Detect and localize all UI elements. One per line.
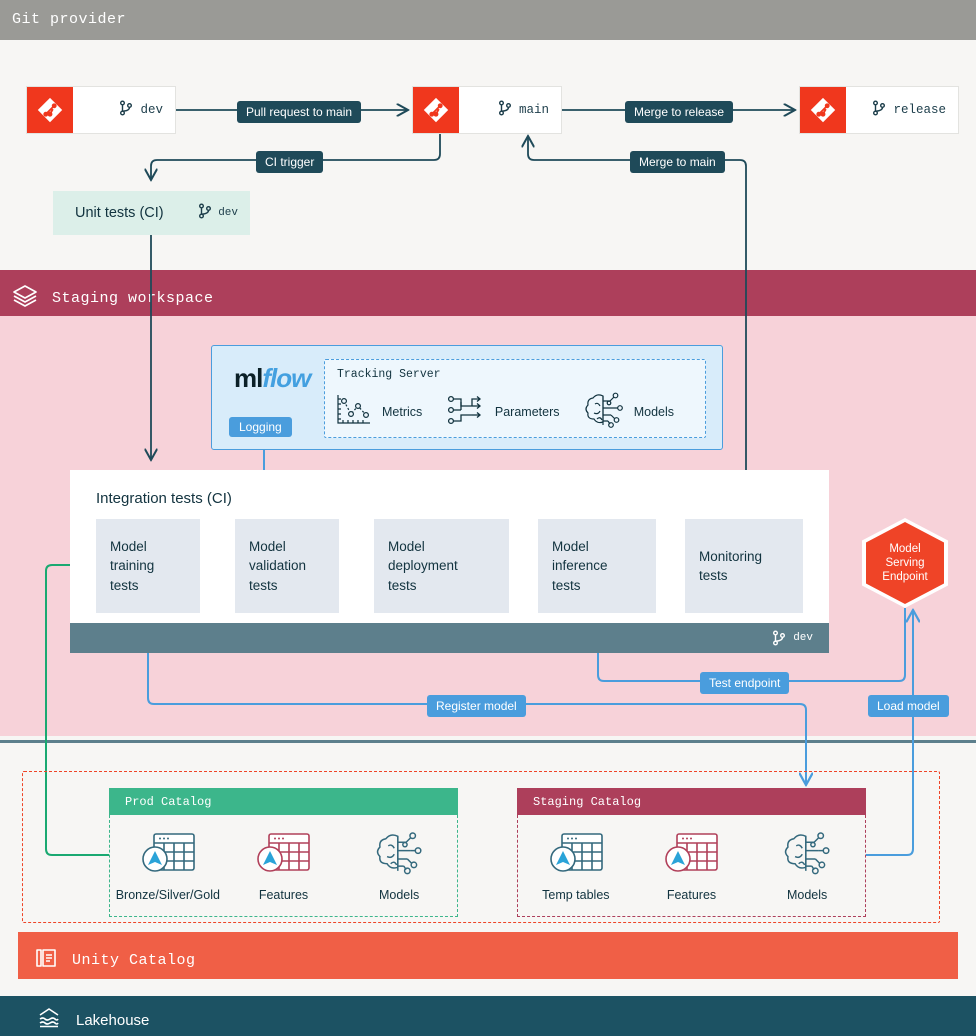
connector-label-merge-to-release: Merge to release [625,101,733,123]
repo-main-body: main [459,87,561,133]
staging-catalog-item-models[interactable]: Models [755,830,859,902]
prod-catalog-item-bronze-silver-gold[interactable]: Bronze/Silver/Gold [116,830,220,902]
prod-catalog-item-models[interactable]: Models [347,830,451,902]
staging-catalog-item-features[interactable]: Features [639,830,743,902]
connector-label-ci-trigger: CI trigger [256,151,323,173]
feature-table-icon [662,830,720,881]
test-card-model-inference[interactable]: Model inference tests [538,519,656,613]
delta-table-icon [547,830,605,881]
tracking-server-box: Tracking Server [324,359,706,438]
staging-catalog-item-label: Temp tables [542,888,609,902]
unit-tests-branch: dev [198,203,238,223]
git-provider-body [0,40,976,270]
prod-catalog-title: Prod Catalog [125,795,211,809]
models-brain-icon [782,830,832,881]
connector-label-logging: Logging [229,417,292,437]
staging-catalog-header: Staging Catalog [517,788,866,815]
unity-catalog-label: Unity Catalog [72,952,196,969]
diagram-canvas: Git provider Staging workspace Unity Cat… [0,0,976,1036]
parameters-nodes-icon [446,393,486,432]
staging-workspace-label: Staging workspace [52,290,214,307]
prod-catalog-header: Prod Catalog [109,788,458,815]
test-card-line1: Model [110,539,147,554]
test-card-model-training[interactable]: Model training tests [96,519,200,613]
prod-catalog-item-label: Features [259,888,308,902]
unit-tests-box[interactable]: Unit tests (CI) dev [53,191,250,235]
serving-endpoint-line3: Endpoint [882,571,927,583]
repo-dev-body: dev [73,87,175,133]
prod-catalog-item-features[interactable]: Features [231,830,335,902]
staging-catalog-item-temp-tables[interactable]: Temp tables [524,830,628,902]
prod-catalog-item-label: Models [379,888,419,902]
serving-endpoint-line2: Serving [886,557,925,569]
git-logo-icon [800,87,846,133]
test-card-line2: inference [552,558,608,573]
branch-icon [772,630,786,646]
tracking-item-parameters-label: Parameters [495,405,560,419]
staging-catalog-title: Staging Catalog [533,795,641,809]
staging-workspace-title: Staging workspace [12,284,214,313]
staging-catalog-item-label: Features [667,888,716,902]
repo-main-branch: main [519,103,549,117]
repo-release[interactable]: release [799,86,959,134]
prod-catalog[interactable]: Prod Catalog [109,788,458,917]
lakehouse-title: Lakehouse [36,1006,149,1034]
models-brain-icon [374,830,424,881]
test-card-line1: Model [249,539,286,554]
test-card-line1: Model [388,539,425,554]
git-logo-icon [413,87,459,133]
test-card-line2: deployment [388,558,458,573]
tracking-server-title: Tracking Server [337,368,441,381]
tracking-server-items: Metrics [333,390,699,434]
connector-label-pull-request-to-main: Pull request to main [237,101,361,123]
prod-catalog-item-label: Bronze/Silver/Gold [116,888,220,902]
test-card-model-validation[interactable]: Model validation tests [235,519,339,613]
staging-catalog[interactable]: Staging Catalog [517,788,866,917]
test-card-line2: tests [699,568,728,583]
metrics-chart-icon [333,392,373,433]
test-card-line2: validation [249,558,306,573]
test-card-line1: Monitoring [699,549,762,564]
unit-tests-label: Unit tests (CI) [75,205,164,221]
tracking-item-models-label: Models [634,405,674,419]
git-provider-band [0,0,976,40]
connector-label-merge-to-main: Merge to main [630,151,725,173]
test-card-line3: tests [388,578,417,593]
feature-table-icon [254,830,312,881]
branch-icon [498,100,512,121]
unity-catalog-title: Unity Catalog [34,946,196,975]
git-logo-icon [27,87,73,133]
databricks-layers-icon [12,284,38,313]
test-card-line1: Model [552,539,589,554]
git-provider-label: Git provider [12,11,126,28]
repo-release-body: release [846,87,958,133]
mlflow-logo: mlflow [234,363,310,394]
branch-icon [872,100,886,121]
test-card-line3: tests [110,578,139,593]
lakehouse-icon [36,1006,62,1034]
mlflow-logo-ml: ml [234,363,262,393]
test-card-model-deployment[interactable]: Model deployment tests [374,519,509,613]
tracking-item-parameters: Parameters [446,393,583,432]
tracking-item-metrics-label: Metrics [382,405,422,419]
test-card-monitoring[interactable]: Monitoring tests [685,519,803,613]
prod-catalog-items: Bronze/Silver/Gold [109,815,458,917]
connector-label-load-model: Load model [868,695,949,717]
git-provider-title: Git provider [12,11,126,28]
integration-tests-title: Integration tests (CI) [96,490,232,507]
repo-dev[interactable]: dev [26,86,176,134]
lakehouse-label: Lakehouse [76,1012,149,1029]
tracking-item-metrics: Metrics [333,392,446,433]
serving-endpoint-line1: Model [889,543,920,555]
staging-catalog-items: Temp tables [517,815,866,917]
models-brain-icon [583,391,625,434]
tracking-item-models: Models [583,391,699,434]
catalog-book-icon [34,946,58,975]
test-card-line2: training [110,558,154,573]
test-card-line3: tests [552,578,581,593]
repo-main[interactable]: main [412,86,562,134]
unit-tests-branch-name: dev [218,207,238,219]
repo-dev-branch: dev [140,103,163,117]
mlflow-logo-flow: flow [262,363,310,393]
integration-tests-branch-name: dev [793,632,813,644]
repo-release-branch: release [893,103,946,117]
integration-tests-branch-strip: dev [70,623,829,653]
connector-label-test-endpoint: Test endpoint [700,672,789,694]
connector-label-register-model: Register model [427,695,526,717]
staging-catalog-item-label: Models [787,888,827,902]
test-card-line3: tests [249,578,278,593]
delta-table-icon [139,830,197,881]
branch-icon [198,203,212,223]
branch-icon [119,100,133,121]
